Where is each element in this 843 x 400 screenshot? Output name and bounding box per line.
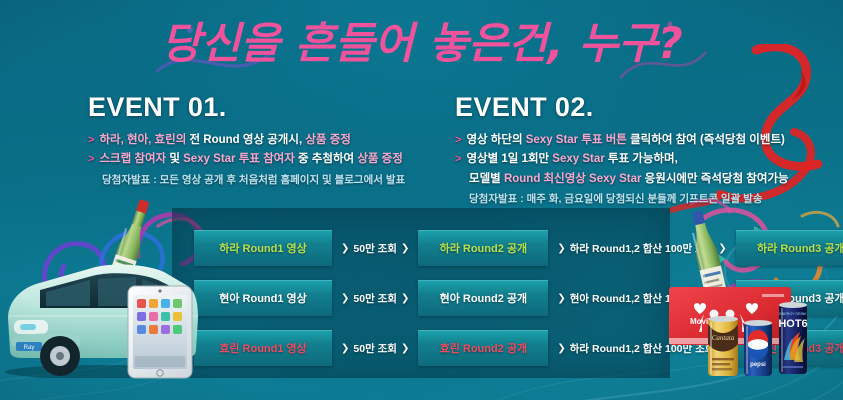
promo-banner: 당신을 흔들어 놓은건, 누구? EVENT 01. > 하라, 현아, 효린의… [0, 0, 843, 400]
vignette-overlay [0, 0, 843, 400]
